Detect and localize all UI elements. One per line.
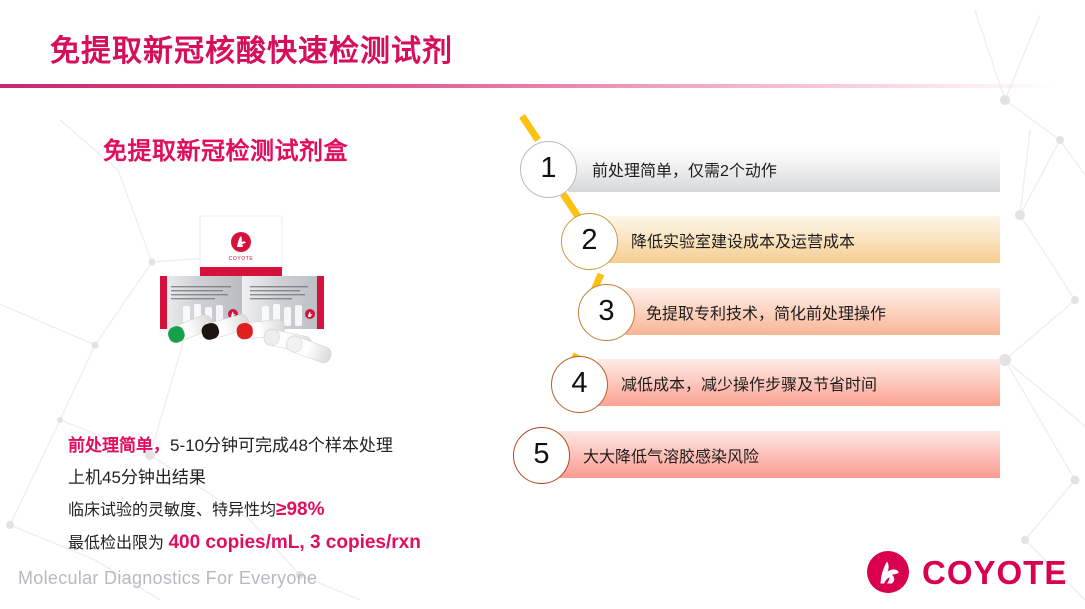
spec-line-1-bold: 前处理简单，: [68, 436, 170, 455]
spec-line-3: 临床试验的灵敏度、特异性均≥98%: [68, 494, 488, 527]
spec-line-4: 最低检出限为 400 copies/mL, 3 copies/rxn: [68, 527, 488, 560]
step-label-1: 前处理简单，仅需2个动作: [592, 145, 777, 192]
coyote-logo: COYOTE: [866, 548, 1071, 596]
product-specs: 前处理简单，5-10分钟可完成48个样本处理 上机45分钟出结果 临床试验的灵敏…: [68, 430, 488, 560]
kit-subtitle: 免提取新冠检测试剂盒: [103, 131, 348, 166]
spec-line-4-rest: 最低检出限为: [68, 535, 168, 552]
step-circle-3[interactable]: 3: [578, 284, 635, 341]
title-divider: [0, 84, 1085, 88]
spec-line-3-bold: ≥98%: [276, 499, 324, 520]
spec-line-4-bold: 400 copies/mL, 3 copies/rxn: [168, 532, 420, 553]
coyote-howling-icon: [866, 550, 910, 594]
step-label-4: 减低成本，减少操作步骤及节省时间: [621, 359, 877, 406]
step-label-5: 大大降低气溶胶感染风险: [583, 431, 759, 478]
logo-wordmark: COYOTE: [922, 556, 1067, 589]
spec-line-3-rest: 临床试验的灵敏度、特异性均: [68, 502, 276, 519]
step-label-3: 免提取专利技术，简化前处理操作: [646, 288, 886, 335]
step-number-4: 4: [571, 367, 587, 400]
benefits-step-list: 1 2 3 4 5 前处理简单，仅需2个动作 降低实验室建设成本及运营成本 免提…: [505, 110, 1005, 510]
spec-line-1: 前处理简单，5-10分钟可完成48个样本处理: [68, 430, 488, 462]
step-circle-2[interactable]: 2: [561, 213, 618, 270]
step-circle-4[interactable]: 4: [551, 356, 608, 413]
spec-line-2: 上机45分钟出结果: [68, 462, 488, 494]
step-circle-1[interactable]: 1: [520, 141, 577, 198]
footer-tagline: Molecular Diagnostics For Everyone: [18, 568, 317, 589]
svg-text:COYOTE: COYOTE: [229, 256, 254, 262]
slide-canvas: 免提取新冠核酸快速检测试剂 免提取新冠检测试剂盒 COYOTE: [0, 0, 1085, 609]
step-number-3: 3: [598, 295, 614, 328]
step-number-2: 2: [581, 224, 597, 257]
spec-line-1-rest: 5-10分钟可完成48个样本处理: [170, 436, 393, 455]
step-label-2: 降低实验室建设成本及运营成本: [631, 216, 855, 263]
product-photo: COYOTE: [138, 214, 348, 389]
step-number-1: 1: [540, 152, 556, 185]
step-circle-5[interactable]: 5: [513, 427, 570, 484]
page-title: 免提取新冠核酸快速检测试剂: [50, 26, 453, 70]
step-number-5: 5: [533, 438, 549, 471]
